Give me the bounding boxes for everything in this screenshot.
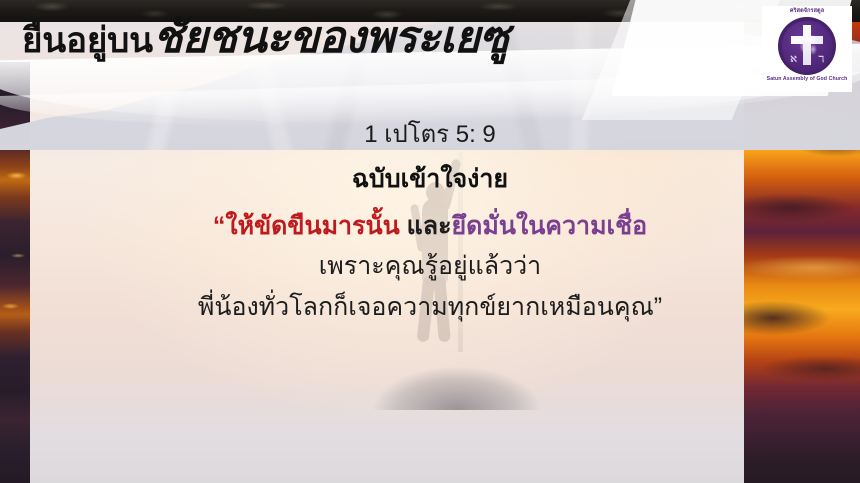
page-title-light-part: ยืนอยู่บน xyxy=(22,21,153,60)
hebrew-letter-right: ℸ xyxy=(818,54,824,65)
logo-thai-name: คริสตจักรสตูล xyxy=(790,9,824,15)
verse-segment: เพราะคุณรู้อยู่แล้วว่า xyxy=(319,252,541,280)
verse-segment: พี่น้องทั่วโลกก็เจอความทุกข์ยากเหมือนคุณ… xyxy=(198,293,662,321)
slide-canvas: ยืนอยู่บนชัยชนะของพระเยซู คริสตจักรสตูล … xyxy=(0,0,860,483)
verse-reference: 1 เปโตร 5: 9 xyxy=(0,120,860,150)
hebrew-letters: ℵ ℸ xyxy=(790,47,824,65)
verse-segment: ยึดมั่นในความเชื่อ xyxy=(452,212,648,240)
hebrew-letter-left: ℵ xyxy=(790,54,797,65)
verse-line: พี่น้องทั่วโลกก็เจอความทุกข์ยากเหมือนคุณ… xyxy=(0,289,860,325)
logo-english-name: Satun Assembly of God Church xyxy=(767,77,848,82)
bible-version: ฉบับเข้าใจง่าย xyxy=(0,164,860,194)
slide-header: ยืนอยู่บนชัยชนะของพระเยซู xyxy=(0,0,860,78)
verse-block: 1 เปโตร 5: 9 ฉบับเข้าใจง่าย “ให้ขัดขืนมา… xyxy=(0,120,860,329)
verse-segment: “ให้ขัดขืนมารนั้น xyxy=(213,212,407,240)
verse-line: เพราะคุณรู้อยู่แล้วว่า xyxy=(0,248,860,284)
page-title: ยืนอยู่บนชัยชนะของพระเยซู xyxy=(22,16,509,60)
logo-emblem: ℵ ℸ xyxy=(778,17,836,75)
verse-line: “ให้ขัดขืนมารนั้น และยึดมั่นในความเชื่อ xyxy=(0,208,860,244)
page-title-bold-part: ชัยชนะของพระเยซู xyxy=(153,13,509,62)
logo-purple-disc: ℵ ℸ xyxy=(782,21,832,71)
church-logo: คริสตจักรสตูล ℵ ℸ Satun Assembly of God … xyxy=(762,6,852,92)
verse-body: “ให้ขัดขืนมารนั้น และยึดมั่นในความเชื่อเ… xyxy=(0,208,860,325)
verse-segment: และ xyxy=(407,212,452,240)
